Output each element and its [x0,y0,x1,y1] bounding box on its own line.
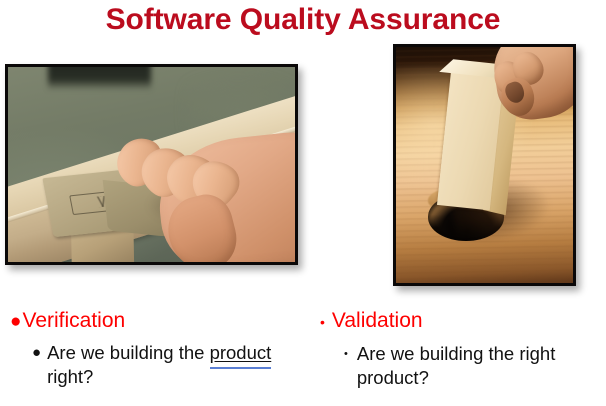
validation-heading: • Validation [320,308,606,335]
product-hyperlink[interactable]: product [210,342,272,363]
slide-canvas: { "slide": { "title": "Software Quality … [0,0,606,406]
peg-photo-content [396,47,573,283]
bullet-icon: ● [32,341,41,365]
validation-sub-text: Are we building the right product? [357,342,606,390]
validation-sub-bullet: • Are we building the right product? [320,342,606,390]
page-title: Software Quality Assurance [0,2,606,38]
verification-sub-text: Are we building the product right? [47,341,300,389]
verification-sub-text-before: Are we building the [47,342,210,363]
background-dark-block [48,67,151,90]
bullet-icon: • [320,310,325,335]
verification-column: ● Verification ● Are we building the pro… [10,308,300,389]
sanding-photo-content [8,67,295,262]
verification-heading-label: Verification [22,308,125,333]
bullet-icon: • [344,342,348,366]
verification-sub-bullet: ● Are we building the product right? [10,341,300,389]
validation-photo-square-peg [393,44,576,286]
bullet-icon: ● [10,309,21,334]
validation-column: • Validation • Are we building the right… [320,308,606,390]
verification-heading: ● Verification [10,308,300,334]
verification-sub-text-after: right? [47,366,93,387]
verification-photo-sanding [5,64,298,265]
validation-heading-label: Validation [332,308,423,333]
